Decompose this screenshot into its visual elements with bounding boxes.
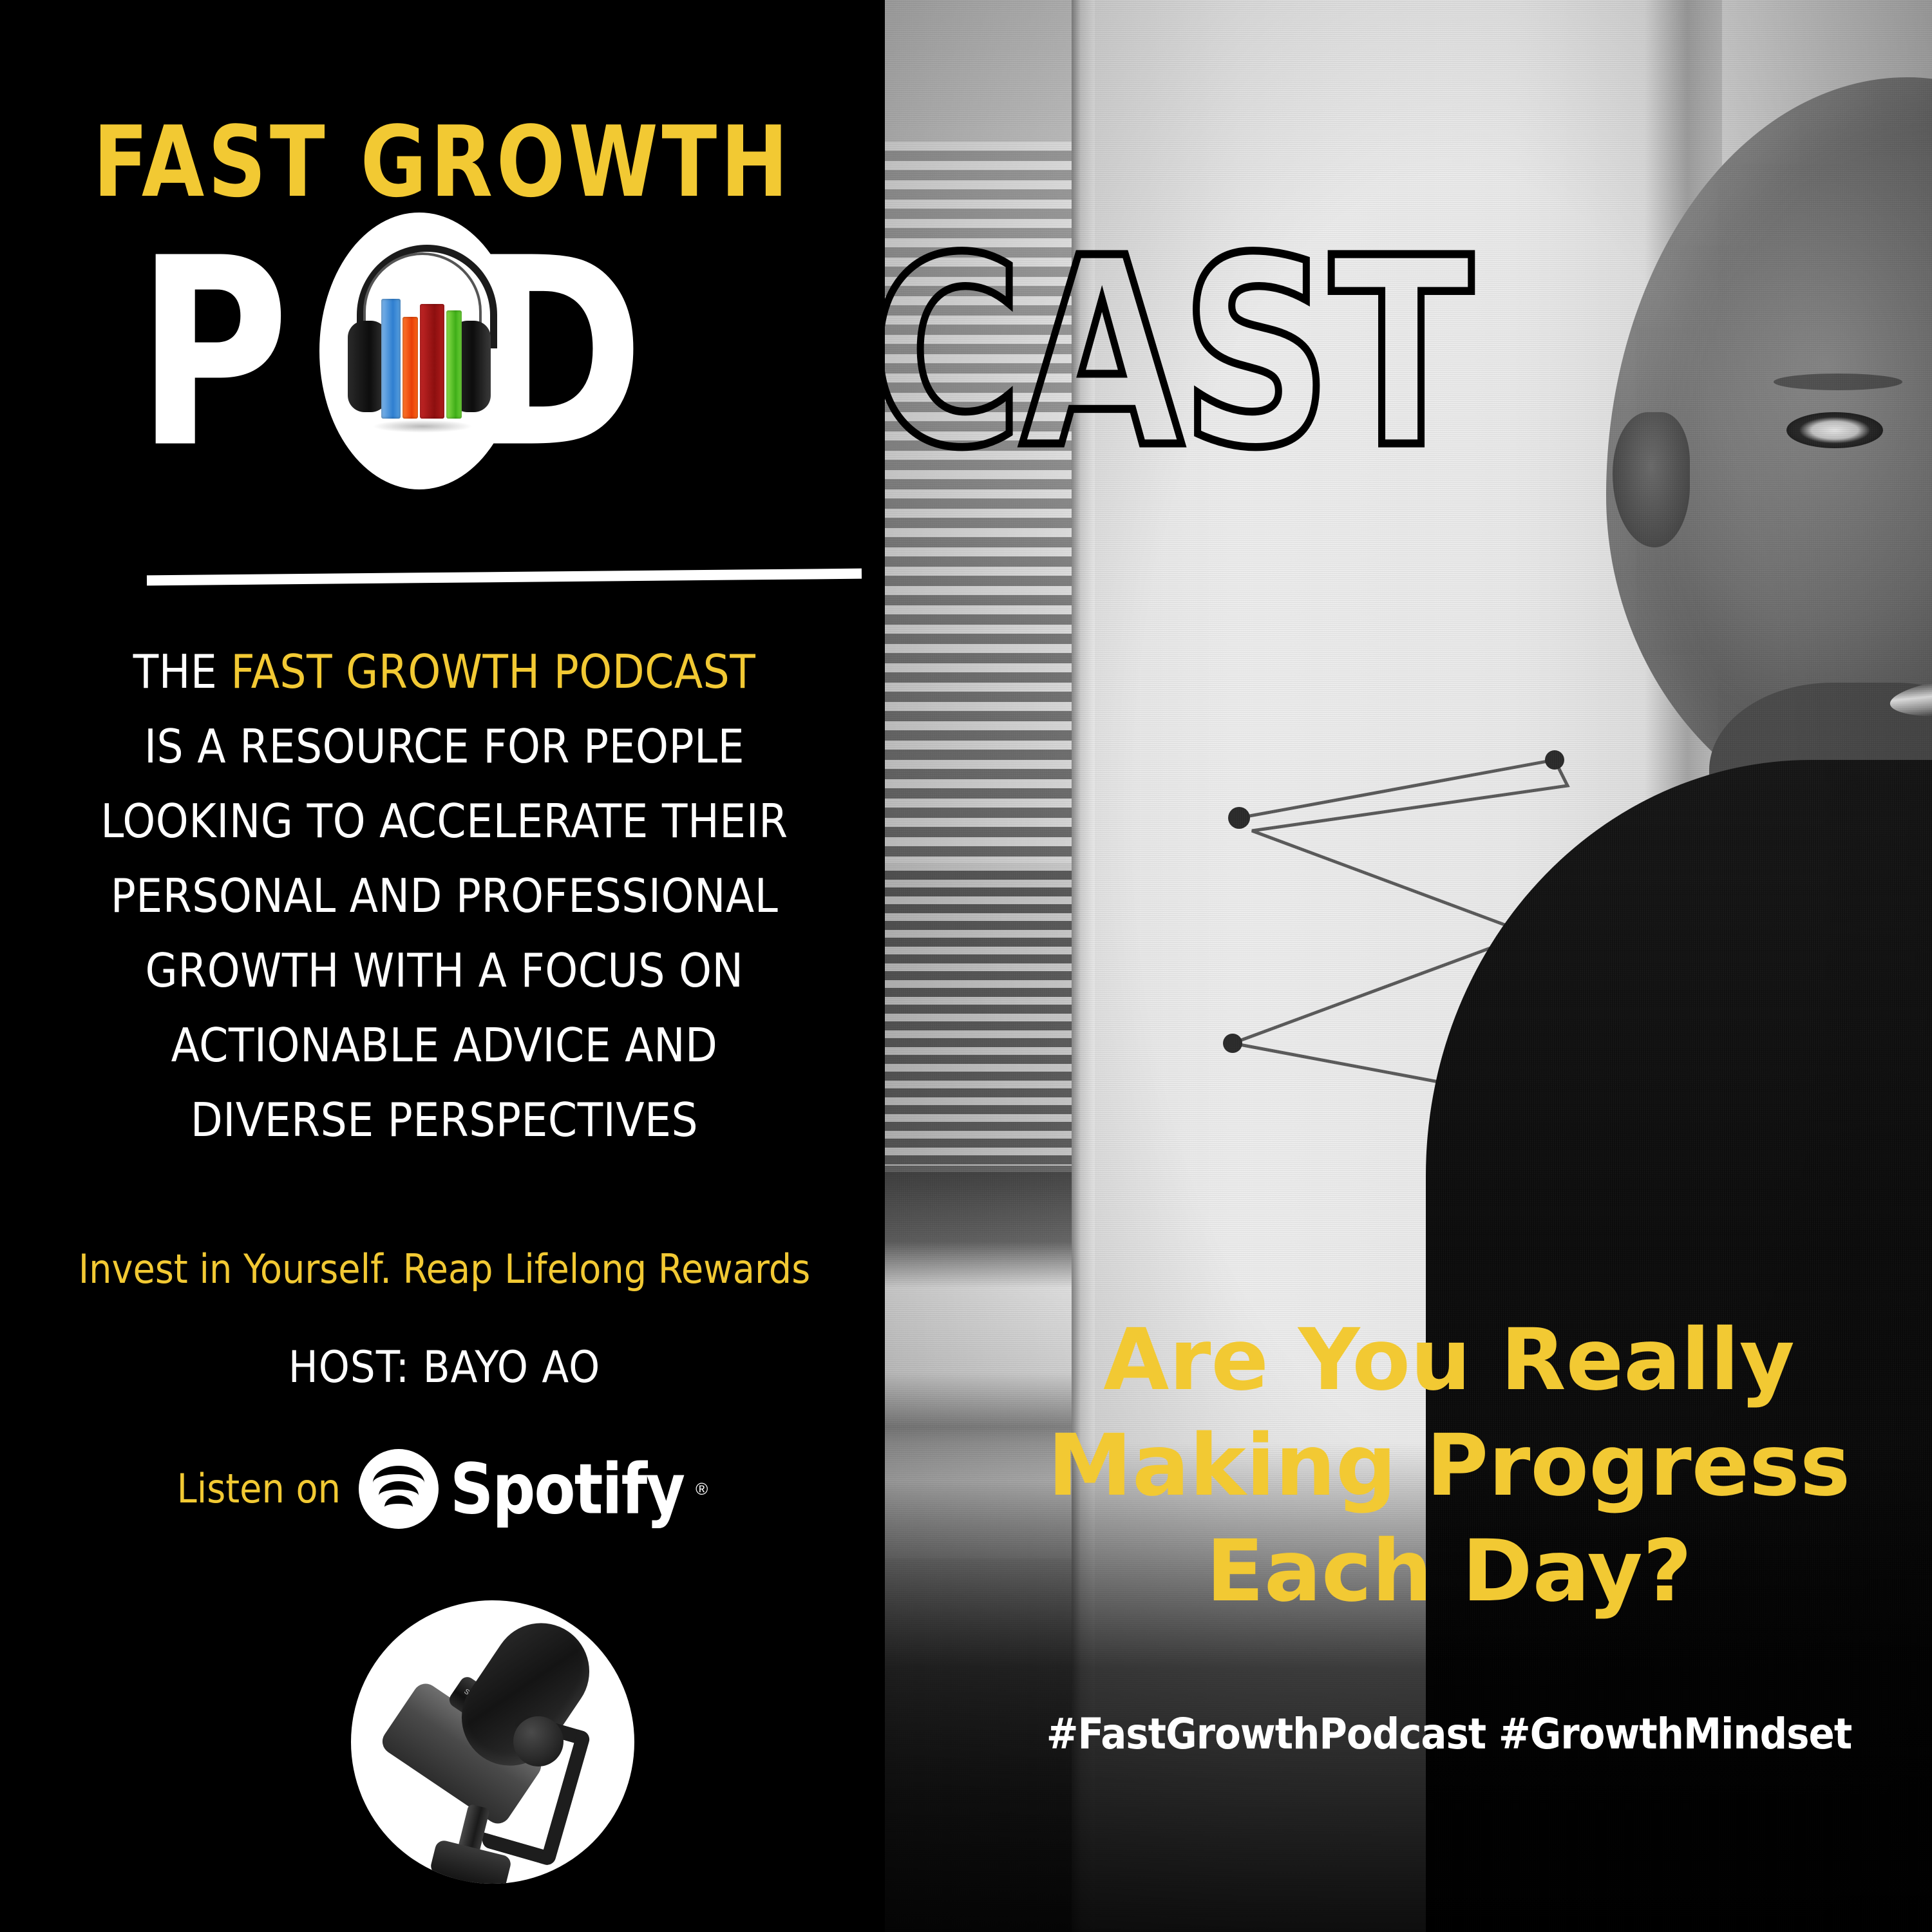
- description-line-7: DIVERSE PERSPECTIVES: [77, 1083, 811, 1157]
- brand-title-top: FAST GROWTH: [35, 113, 849, 211]
- show-description: THE FAST GROWTH PODCAST IS A RESOURCE FO…: [77, 634, 811, 1157]
- episode-title-line-1: Are You Really: [985, 1307, 1913, 1413]
- podcast-cover: FAST GROWTH PD CAST THE FAST GROWTH PODC…: [0, 0, 1932, 1932]
- headphones-books-icon: [319, 213, 519, 489]
- listen-on-label: Listen on: [177, 1469, 341, 1509]
- tagline: Invest in Yourself. Reap Lifelong Reward…: [39, 1249, 850, 1289]
- episode-title-line-2: Making Progress: [985, 1413, 1913, 1519]
- host-credit: HOST: BAYO AO: [39, 1346, 850, 1390]
- microphone-icon: SHURE SM7: [351, 1600, 634, 1884]
- description-line-4: PERSONAL AND PROFESSIONAL: [77, 858, 811, 933]
- cast-outline-text: CAST: [869, 224, 1472, 484]
- spotify-wordmark: Spotify: [450, 1454, 684, 1524]
- description-line-5: GROWTH WITH A FOCUS ON: [77, 933, 811, 1008]
- book-orange: [402, 317, 418, 419]
- books-shadow: [372, 420, 473, 433]
- description-brand-highlight: FAST GROWTH PODCAST: [231, 645, 755, 699]
- book-blue: [381, 299, 401, 419]
- registered-mark: ®: [696, 1479, 708, 1499]
- episode-title: Are You Really Making Progress Each Day?: [985, 1307, 1913, 1624]
- spotify-icon: [359, 1449, 439, 1529]
- description-line-3: LOOKING TO ACCELERATE THEIR: [77, 784, 811, 858]
- description-prefix: THE: [133, 645, 231, 699]
- episode-hashtags: #FastGrowthPodcast #GrowthMindset: [985, 1713, 1913, 1756]
- spotify-logo[interactable]: Spotify ®: [359, 1449, 708, 1529]
- description-line-6: ACTIONABLE ADVICE AND: [77, 1008, 811, 1083]
- description-line-1: THE FAST GROWTH PODCAST: [77, 634, 811, 709]
- mic-knob: [513, 1716, 563, 1766]
- letter-p: P: [137, 224, 287, 484]
- listen-on-spotify-badge[interactable]: Listen on Spotify ®: [0, 1449, 885, 1529]
- episode-title-line-3: Each Day?: [985, 1519, 1913, 1624]
- description-line-2: IS A RESOURCE FOR PEOPLE: [77, 709, 811, 784]
- books-stack: [381, 296, 462, 419]
- book-green: [446, 310, 462, 419]
- book-red: [420, 304, 444, 419]
